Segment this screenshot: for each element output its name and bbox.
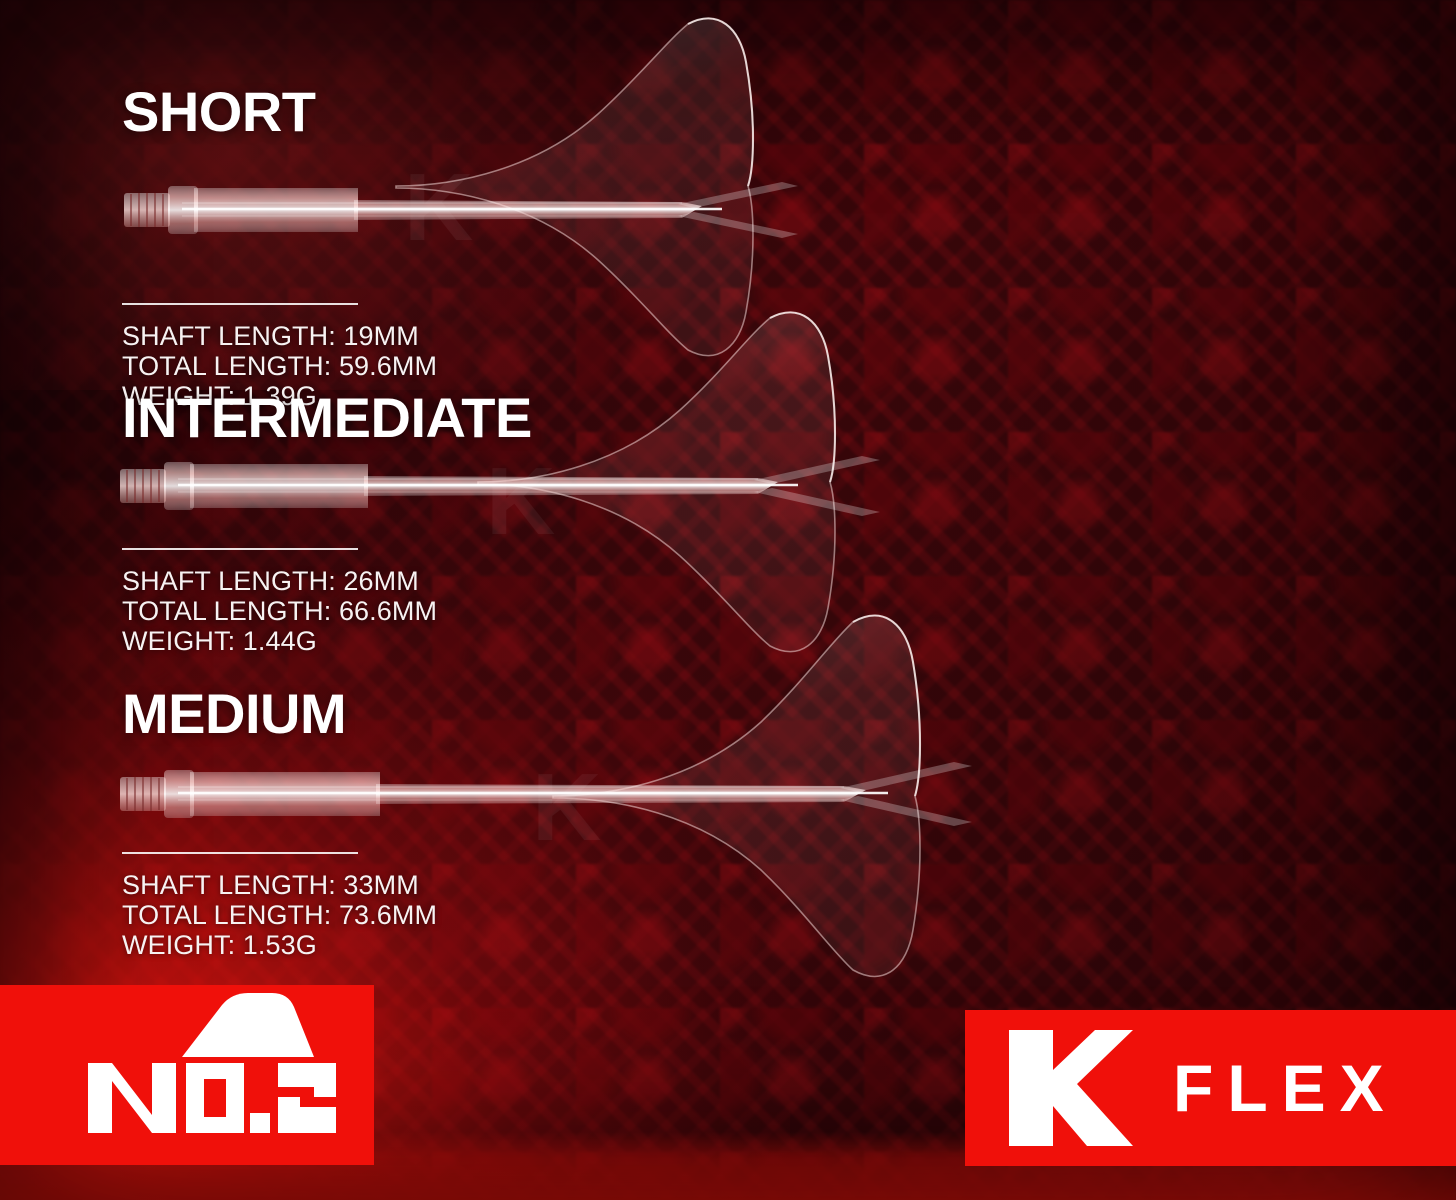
spec-shaft-length-intermediate: SHAFT LENGTH: 26MM xyxy=(122,566,532,596)
badge-no2 xyxy=(0,985,374,1165)
spec-shaft-length-short: SHAFT LENGTH: 19MM xyxy=(122,321,437,351)
infographic-canvas: K xyxy=(0,0,1456,1200)
dart-flight-icon xyxy=(182,993,314,1057)
kflex-k-mark xyxy=(1003,1026,1133,1150)
divider-intermediate xyxy=(122,548,358,550)
divider-short xyxy=(122,303,358,305)
spec-total-length-intermediate: TOTAL LENGTH: 66.6MM xyxy=(122,596,532,626)
section-title-short: SHORT xyxy=(122,84,437,140)
spec-weight-intermediate: WEIGHT: 1.44G xyxy=(122,626,532,656)
spec-block-short: SHORT SHAFT LENGTH: 19MM TOTAL LENGTH: 5… xyxy=(122,84,437,411)
no2-logo xyxy=(0,985,374,1165)
spec-total-length-short: TOTAL LENGTH: 59.6MM xyxy=(122,351,437,381)
section-title-intermediate: INTERMEDIATE xyxy=(122,390,532,446)
spec-block-medium: MEDIUM SHAFT LENGTH: 33MM TOTAL LENGTH: … xyxy=(122,686,437,960)
badge-kflex: FLEX xyxy=(965,1010,1456,1166)
spec-list-intermediate: SHAFT LENGTH: 26MM TOTAL LENGTH: 66.6MM … xyxy=(122,566,532,656)
divider-medium xyxy=(122,852,358,854)
spec-block-intermediate: INTERMEDIATE SHAFT LENGTH: 26MM TOTAL LE… xyxy=(122,390,532,656)
kflex-wordmark: FLEX xyxy=(1173,1055,1398,1121)
spec-shaft-length-medium: SHAFT LENGTH: 33MM xyxy=(122,870,437,900)
spec-weight-medium: WEIGHT: 1.53G xyxy=(122,930,437,960)
section-title-medium: MEDIUM xyxy=(122,686,437,742)
spec-list-medium: SHAFT LENGTH: 33MM TOTAL LENGTH: 73.6MM … xyxy=(122,870,437,960)
spec-total-length-medium: TOTAL LENGTH: 73.6MM xyxy=(122,900,437,930)
